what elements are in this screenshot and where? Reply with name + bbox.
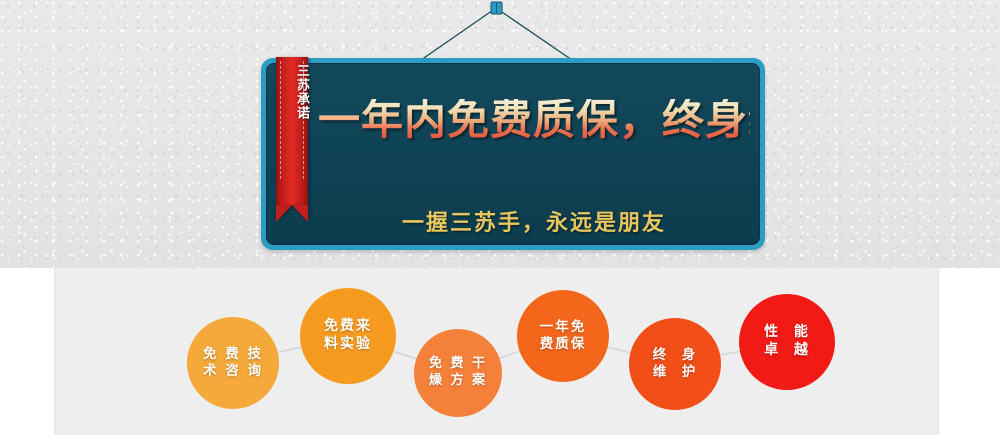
flow-bubbles	[187, 288, 835, 417]
promise-banner-inner: 三苏承诺 一年内免费质保，终身维护 一握三苏手，永远是朋友	[266, 63, 760, 245]
flow-bubble-1[interactable]	[187, 317, 279, 409]
flow-bubble-6[interactable]	[739, 294, 835, 390]
banner-headline: 一年内免费质保，终身维护	[318, 99, 750, 141]
banner-subtitle: 一握三苏手，永远是朋友	[318, 205, 750, 237]
flow-bubble-4[interactable]	[517, 290, 609, 382]
flow-bubble-2[interactable]	[300, 288, 396, 384]
promise-ribbon-label: 三苏承诺	[276, 64, 308, 120]
flow-bubble-5[interactable]	[629, 318, 721, 410]
ribbon-tail-notch	[276, 205, 308, 222]
flow-bubble-3[interactable]	[414, 329, 502, 417]
promise-ribbon: 三苏承诺	[276, 57, 308, 205]
promise-flow-diagram	[0, 268, 1000, 435]
promise-banner: 三苏承诺 一年内免费质保，终身维护 一握三苏手，永远是朋友	[261, 58, 765, 250]
